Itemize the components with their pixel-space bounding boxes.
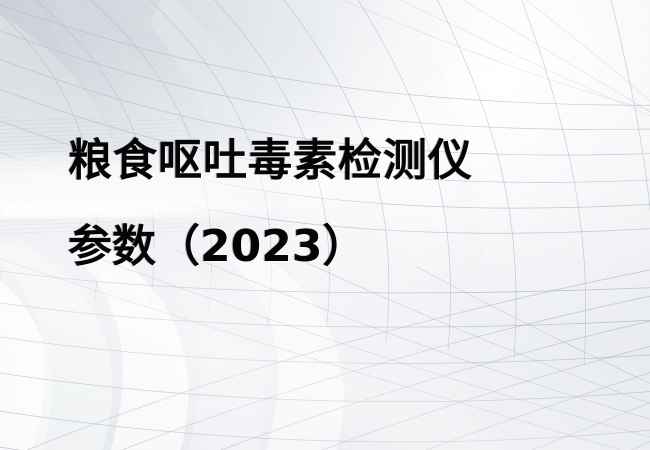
banner-title: 粮食呕吐毒素检测仪 参数（2023）	[68, 118, 608, 290]
title-line-1: 粮食呕吐毒素检测仪	[68, 118, 608, 204]
title-banner: 粮食呕吐毒素检测仪 参数（2023）	[0, 0, 650, 450]
title-line-2: 参数（2023）	[68, 204, 608, 290]
